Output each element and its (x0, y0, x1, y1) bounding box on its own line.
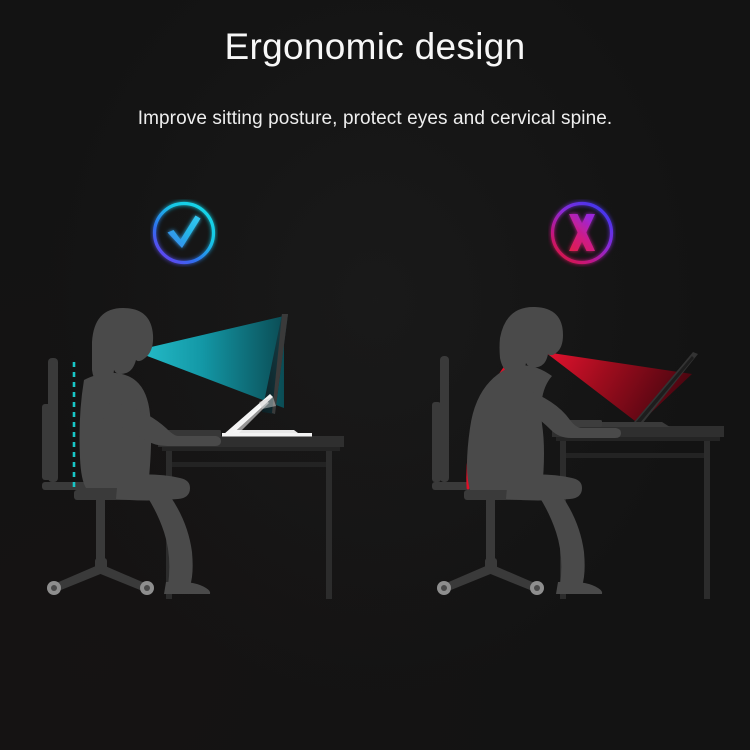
chair-cylinder (96, 500, 105, 566)
person-torso-bad (467, 365, 552, 490)
person-thigh-good (116, 474, 190, 500)
person-shin-bad (540, 496, 585, 586)
cross-icon (569, 214, 595, 251)
page-subtitle: Improve sitting posture, protect eyes an… (0, 108, 750, 130)
page-title: Ergonomic design (0, 26, 750, 68)
check-icon (168, 216, 201, 249)
person-head-good (92, 308, 153, 384)
laptop-base-bad (596, 422, 670, 427)
person-head-bad (500, 307, 564, 375)
check-badge-ring (155, 204, 214, 263)
good-posture-illustration (26, 296, 356, 626)
cross-badge (548, 199, 616, 267)
bad-posture-illustration (404, 296, 734, 626)
person-foot-bad (556, 582, 602, 594)
chair-backrest (440, 356, 449, 482)
person-thigh-bad (506, 474, 582, 500)
laptop-stand-foot (222, 433, 312, 437)
check-badge (150, 199, 218, 267)
gaze-cone-good (134, 316, 284, 408)
product-feature-panel: Ergonomic design Improve sitting posture… (0, 0, 750, 750)
chair-cylinder (486, 500, 495, 566)
person-foot-good (164, 582, 210, 594)
person-shin-good (148, 496, 193, 586)
